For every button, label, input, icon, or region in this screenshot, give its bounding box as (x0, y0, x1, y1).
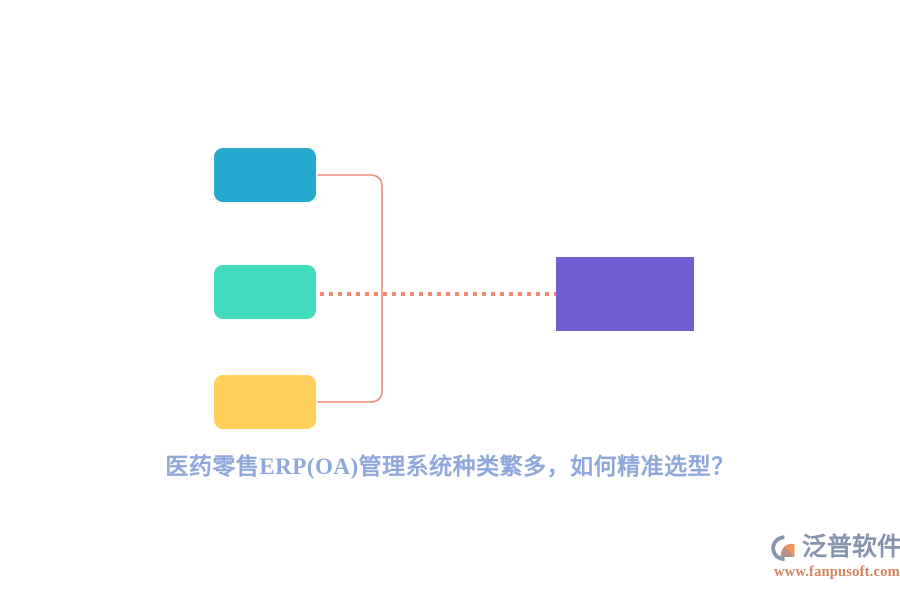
yellow-rounded-box (214, 375, 316, 429)
fanpu-logo: 泛普软件 www.fanpusoft.com (770, 531, 892, 583)
blue-rounded-box (214, 148, 316, 202)
green-rounded-box (214, 265, 316, 319)
diagram-graphic (0, 0, 900, 600)
coral-bracket-connector (318, 175, 382, 402)
logo-url: www.fanpusoft.com (774, 564, 900, 581)
purple-box (556, 257, 694, 331)
diagram-caption: 医药零售ERP(OA)管理系统种类繁多，如何精准选型？ (0, 447, 900, 481)
logo-wordmark: 泛普软件 (802, 533, 900, 563)
diagram-canvas: 医药零售ERP(OA)管理系统种类繁多，如何精准选型？ 泛普软件 www.fan… (0, 0, 900, 600)
logo-mark-row: 泛普软件 (770, 531, 900, 564)
fanpu-swoosh-icon (770, 533, 800, 563)
